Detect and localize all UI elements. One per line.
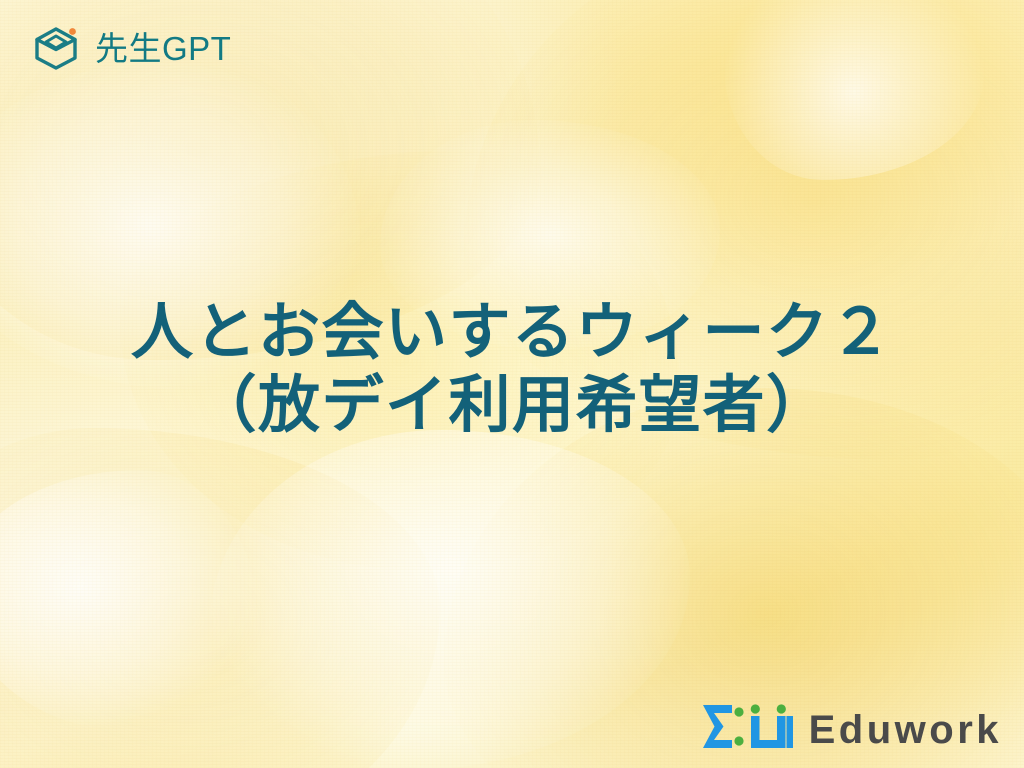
presentation-slide: 先生GPT 人とお会いするウィーク２ （放デイ利用希望者） Eduwork: [0, 0, 1024, 768]
eduwork-e-w-mark-icon: [701, 702, 793, 758]
slide-title: 人とお会いするウィーク２ （放デイ利用希望者）: [0, 296, 1024, 442]
graduation-cap-hexagon-icon: [30, 22, 82, 74]
brand-lockup: 先生GPT: [30, 22, 231, 74]
eduwork-wordmark: Eduwork: [809, 710, 1002, 750]
title-line-2: （放デイ利用希望者）: [60, 369, 964, 442]
eduwork-logo-lockup: Eduwork: [701, 702, 1002, 758]
brand-name: 先生GPT: [95, 32, 231, 65]
title-line-1: 人とお会いするウィーク２: [60, 296, 964, 369]
